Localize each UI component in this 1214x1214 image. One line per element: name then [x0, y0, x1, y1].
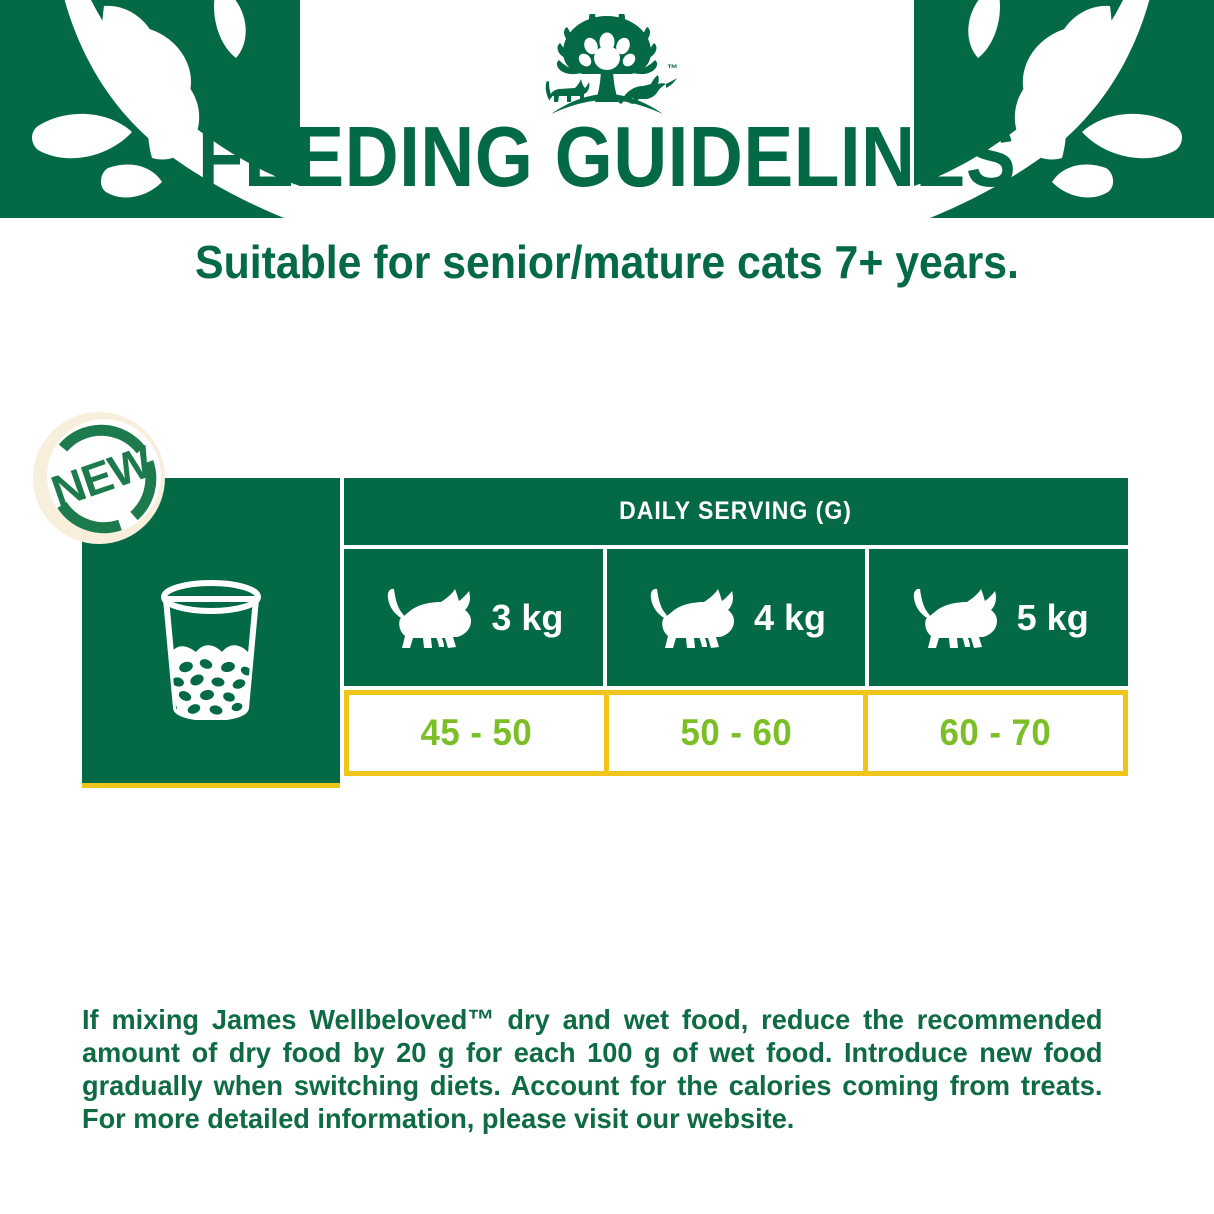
cat-icon: [642, 583, 748, 653]
weight-cell-3kg: 3 kg: [344, 549, 603, 686]
measuring-cup-with-kibble-icon: [152, 572, 270, 720]
weight-label-4kg: 4 kg: [754, 598, 826, 638]
weight-header-row: 3 kg 4 kg: [344, 549, 1128, 686]
cat-icon: [379, 583, 485, 653]
weight-cell-5kg: 5 kg: [869, 549, 1128, 686]
serving-cell-4kg: 50 - 60: [609, 695, 869, 771]
serving-value-5kg: 60 - 70: [940, 712, 1052, 754]
daily-serving-header: DAILY SERVING (G): [344, 478, 1128, 545]
weight-cell-4kg: 4 kg: [607, 549, 866, 686]
new-badge: NEW: [28, 410, 170, 546]
weight-label-5kg: 5 kg: [1017, 598, 1089, 638]
logo-cat: [546, 79, 590, 102]
footer-note: If mixing James Wellbeloved™ dry and wet…: [82, 1003, 1102, 1135]
daily-serving-column-group: DAILY SERVING (G): [344, 478, 1128, 788]
weight-label-3kg: 3 kg: [491, 598, 563, 638]
cat-icon: [905, 583, 1011, 653]
header-band: ™ FEEDING GUIDELINES: [0, 0, 1214, 218]
serving-cell-5kg: 60 - 70: [868, 695, 1123, 771]
james-wellbeloved-tree-logo: ™: [527, 14, 687, 118]
serving-cell-3kg: 45 - 50: [349, 695, 609, 771]
serving-value-4kg: 50 - 60: [680, 712, 792, 754]
serving-value-3kg: 45 - 50: [421, 712, 533, 754]
serving-values-row: 45 - 50 50 - 60 60 - 70: [344, 690, 1128, 776]
feeding-table: DAILY SERVING (G): [82, 478, 1128, 788]
svg-text:™: ™: [667, 63, 678, 75]
daily-serving-header-label: DAILY SERVING (G): [620, 497, 853, 526]
feeding-guidelines-page: ™ FEEDING GUIDELINES Suitable for senior…: [0, 0, 1214, 1214]
page-subtitle: Suitable for senior/mature cats 7+ years…: [42, 234, 1171, 290]
page-title: FEEDING GUIDELINES: [73, 112, 1141, 204]
